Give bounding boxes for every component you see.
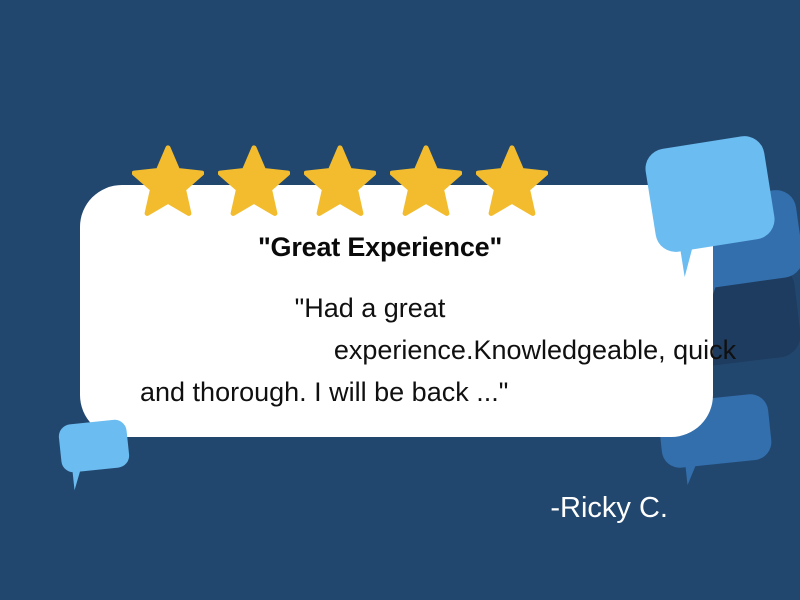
review-quote-line: experience.Knowledgeable, quick xyxy=(140,329,800,371)
bubble-body xyxy=(643,133,778,254)
star-icon xyxy=(476,145,548,217)
testimonial-canvas: "Great Experience" "Had a great experien… xyxy=(0,0,800,600)
star-icon xyxy=(218,145,290,217)
review-quote-line: "Had a great xyxy=(140,287,800,329)
star-icon xyxy=(304,145,376,217)
speech-bubble-light-top-right-icon xyxy=(643,133,778,254)
bubble-body xyxy=(58,419,131,474)
star-icon xyxy=(390,145,462,217)
review-quote-line: and thorough. I will be back ..." xyxy=(140,371,800,413)
speech-bubble-light-bottom-left-icon xyxy=(58,419,131,474)
review-title: "Great Experience" xyxy=(80,232,680,263)
star-rating xyxy=(132,145,546,217)
bubble-tail xyxy=(685,460,700,485)
star-icon xyxy=(132,145,204,217)
review-quote-body: "Had a great experience.Knowledgeable, q… xyxy=(140,287,800,413)
review-attribution: -Ricky C. xyxy=(0,492,668,525)
